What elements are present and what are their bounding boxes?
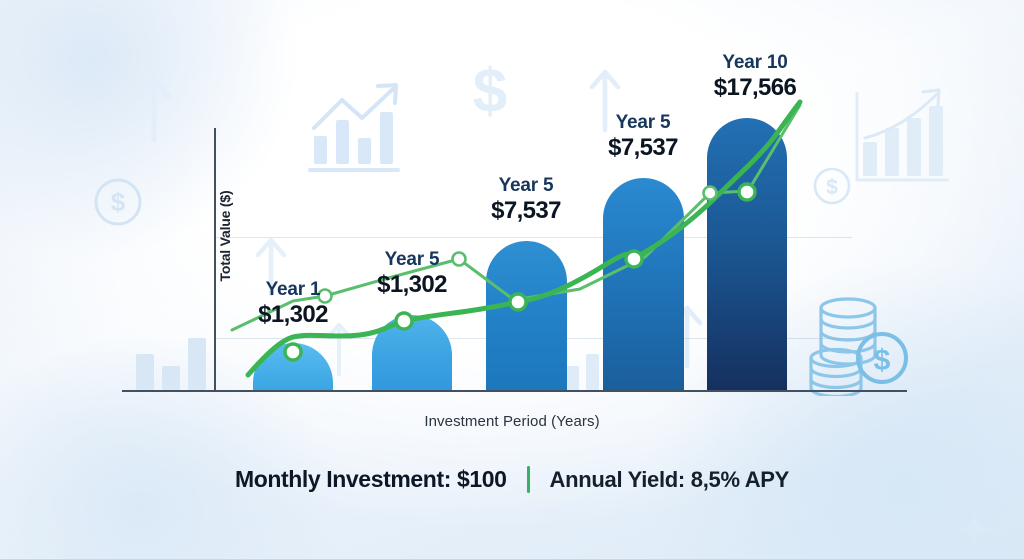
data-label-year-10-value: $17,566 — [665, 75, 845, 101]
investment-growth-infographic: $ $ $ — [0, 0, 1024, 559]
line-marker-filled-5 — [739, 184, 755, 200]
data-label-year-5-a: Year 5 $1,302 — [332, 250, 492, 297]
data-label-year-5-c-period: Year 5 — [563, 113, 723, 134]
data-label-year-5-b: Year 5 $7,537 — [446, 176, 606, 223]
annual-yield-text: Annual Yield: 8,5% APY — [550, 467, 790, 493]
line-marker-hollow-3 — [704, 187, 717, 200]
line-marker-filled-2 — [396, 313, 412, 329]
monthly-investment-text: Monthly Investment: $100 — [235, 466, 507, 493]
data-label-year-5-c: Year 5 $7,537 — [563, 113, 723, 160]
data-label-year-5-c-value: $7,537 — [563, 135, 723, 161]
line-marker-filled-4 — [626, 251, 642, 267]
data-label-year-5-b-period: Year 5 — [446, 176, 606, 197]
data-label-year-5-b-value: $7,537 — [446, 198, 606, 224]
summary-footer: Monthly Investment: $100 Annual Yield: 8… — [0, 466, 1024, 493]
data-label-year-10: Year 10 $17,566 — [665, 53, 845, 100]
footer-divider — [527, 466, 530, 493]
line-marker-filled-3 — [510, 294, 526, 310]
line-marker-filled-1 — [285, 344, 301, 360]
data-label-year-10-period: Year 10 — [665, 53, 845, 74]
data-label-year-5-a-value: $1,302 — [332, 272, 492, 298]
data-label-year-5-a-period: Year 5 — [332, 250, 492, 271]
x-axis-label: Investment Period (Years) — [0, 413, 1024, 430]
data-label-year-1-value: $1,302 — [213, 302, 373, 328]
